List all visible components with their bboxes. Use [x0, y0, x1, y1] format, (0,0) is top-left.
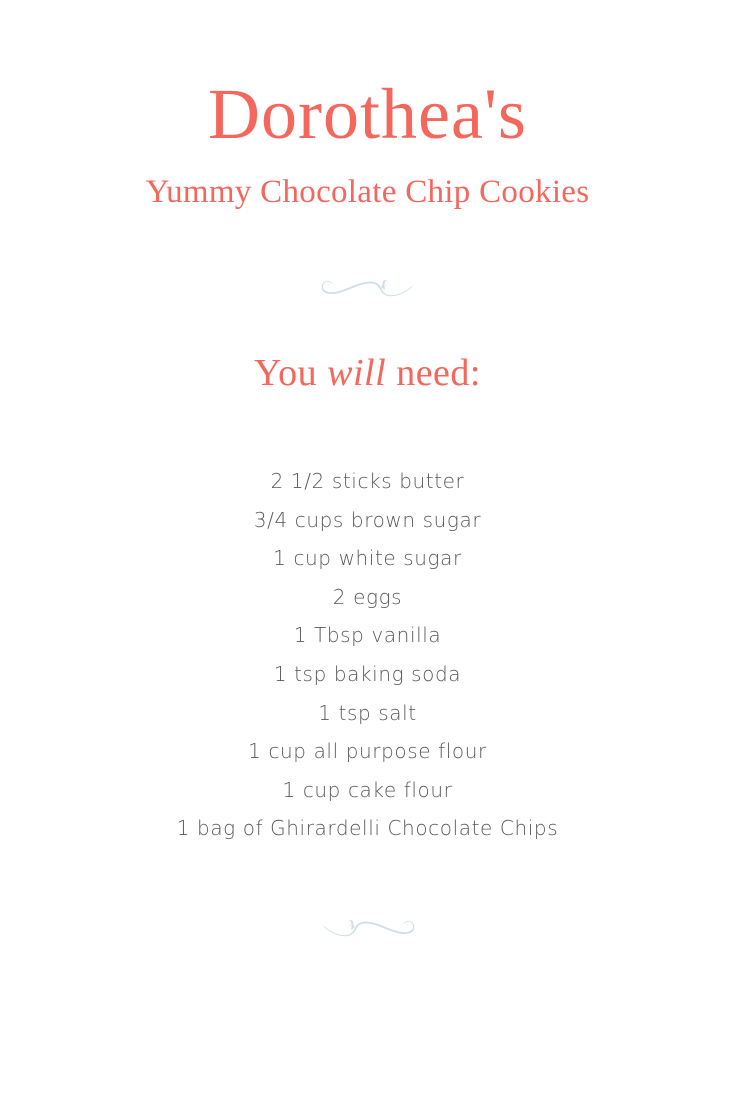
list-item: 1 tsp salt — [0, 694, 735, 733]
flourish-icon — [320, 274, 416, 300]
list-item: 2 eggs — [0, 578, 735, 617]
list-item: 3/4 cups brown sugar — [0, 501, 735, 540]
section-heading-part2: need: — [386, 352, 481, 394]
flourish-icon — [320, 914, 416, 940]
recipe-header: Dorothea's Yummy Chocolate Chip Cookies — [0, 78, 735, 209]
ingredients-list: 2 1/2 sticks butter 3/4 cups brown sugar… — [0, 462, 735, 848]
list-item: 1 cup cake flour — [0, 771, 735, 810]
list-item: 1 cup all purpose flour — [0, 732, 735, 771]
section-heading-emphasis: will — [327, 352, 386, 394]
section-heading: You will need: — [0, 354, 735, 392]
flourish-divider-top — [0, 270, 735, 304]
list-item: 1 bag of Ghirardelli Chocolate Chips — [0, 809, 735, 848]
page-title: Dorothea's — [0, 78, 735, 150]
list-item: 1 tsp baking soda — [0, 655, 735, 694]
flourish-divider-bottom — [0, 910, 735, 944]
list-item: 2 1/2 sticks butter — [0, 462, 735, 501]
section-heading-part1: You — [254, 352, 327, 394]
list-item: 1 cup white sugar — [0, 539, 735, 578]
recipe-subtitle: Yummy Chocolate Chip Cookies — [0, 150, 735, 209]
recipe-card: Dorothea's Yummy Chocolate Chip Cookies … — [0, 0, 735, 1102]
list-item: 1 Tbsp vanilla — [0, 616, 735, 655]
